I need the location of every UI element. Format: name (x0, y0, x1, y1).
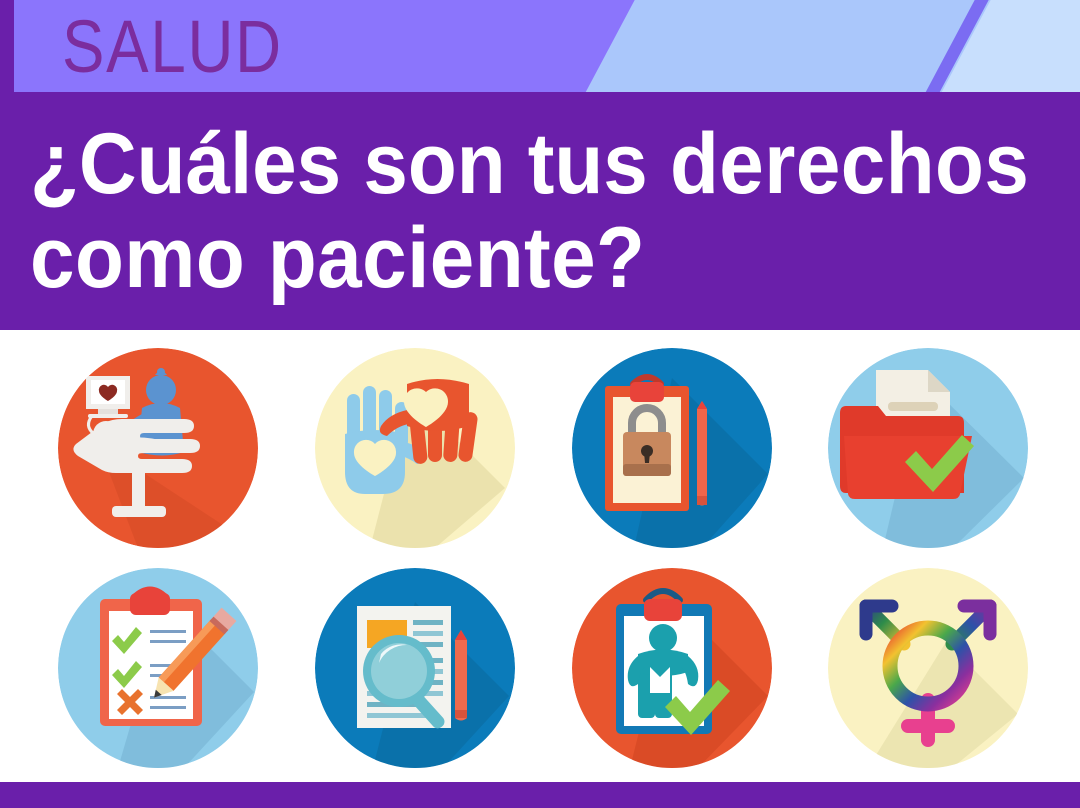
icon-cell-folder-check (828, 348, 1028, 548)
kicker-left-edge (0, 0, 14, 92)
kicker-label: SALUD (62, 4, 283, 90)
folder-document-check-icon (828, 348, 1028, 548)
icon-cell-checklist-pencil (58, 568, 258, 768)
icon-cell-document-magnifier (315, 568, 515, 768)
icon-cell-clipboard-person (572, 568, 772, 768)
caring-hands-hearts-icon (315, 348, 515, 548)
kicker-band: SALUD (0, 0, 1080, 92)
infographic-poster: SALUD ¿Cuáles son tus derechos como paci… (0, 0, 1080, 808)
bottom-accent-bar (0, 782, 1080, 808)
gender-identity-symbol-icon (828, 568, 1028, 768)
icon-grid (0, 330, 1080, 782)
clipboard-person-check-icon (572, 568, 772, 768)
page-title-regular: ¿Cuáles son tus (30, 116, 670, 212)
page-title-emphasis: derechos (670, 116, 1029, 212)
icon-cell-patient-exam-table (58, 348, 258, 548)
page-title-line-2: como paciente? (30, 210, 645, 306)
patient-on-exam-table-icon (58, 348, 258, 548)
page-title-line-2-text: como paciente? (30, 210, 645, 306)
checklist-pencil-icon (58, 568, 258, 768)
icon-cell-caring-hands (315, 348, 515, 548)
document-magnifier-icon (315, 568, 515, 768)
title-band: ¿Cuáles son tus derechos como paciente? (0, 92, 1080, 330)
page-title-line-1: ¿Cuáles son tus derechos (30, 116, 1029, 212)
clipboard-padlock-icon (572, 348, 772, 548)
icon-cell-clipboard-padlock (572, 348, 772, 548)
icon-cell-gender-symbol (828, 568, 1028, 768)
